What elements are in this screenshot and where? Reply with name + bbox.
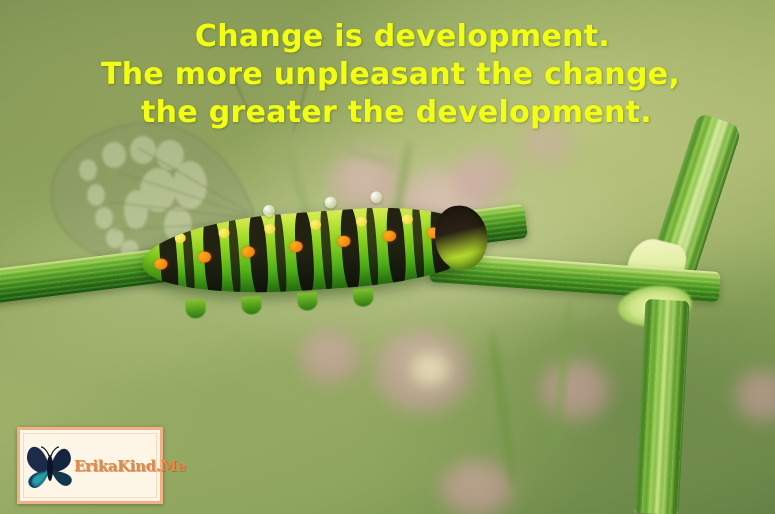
caterpillar-body xyxy=(140,200,485,302)
butterfly-icon xyxy=(24,438,76,494)
dew-drop xyxy=(324,196,337,209)
dew-drop xyxy=(370,191,383,204)
watermark-label: ErikaKind.Me xyxy=(74,457,186,475)
watermark-logo[interactable]: ErikaKind.Me xyxy=(17,427,163,504)
quote-image: Change is development. The more unpleasa… xyxy=(0,0,775,514)
